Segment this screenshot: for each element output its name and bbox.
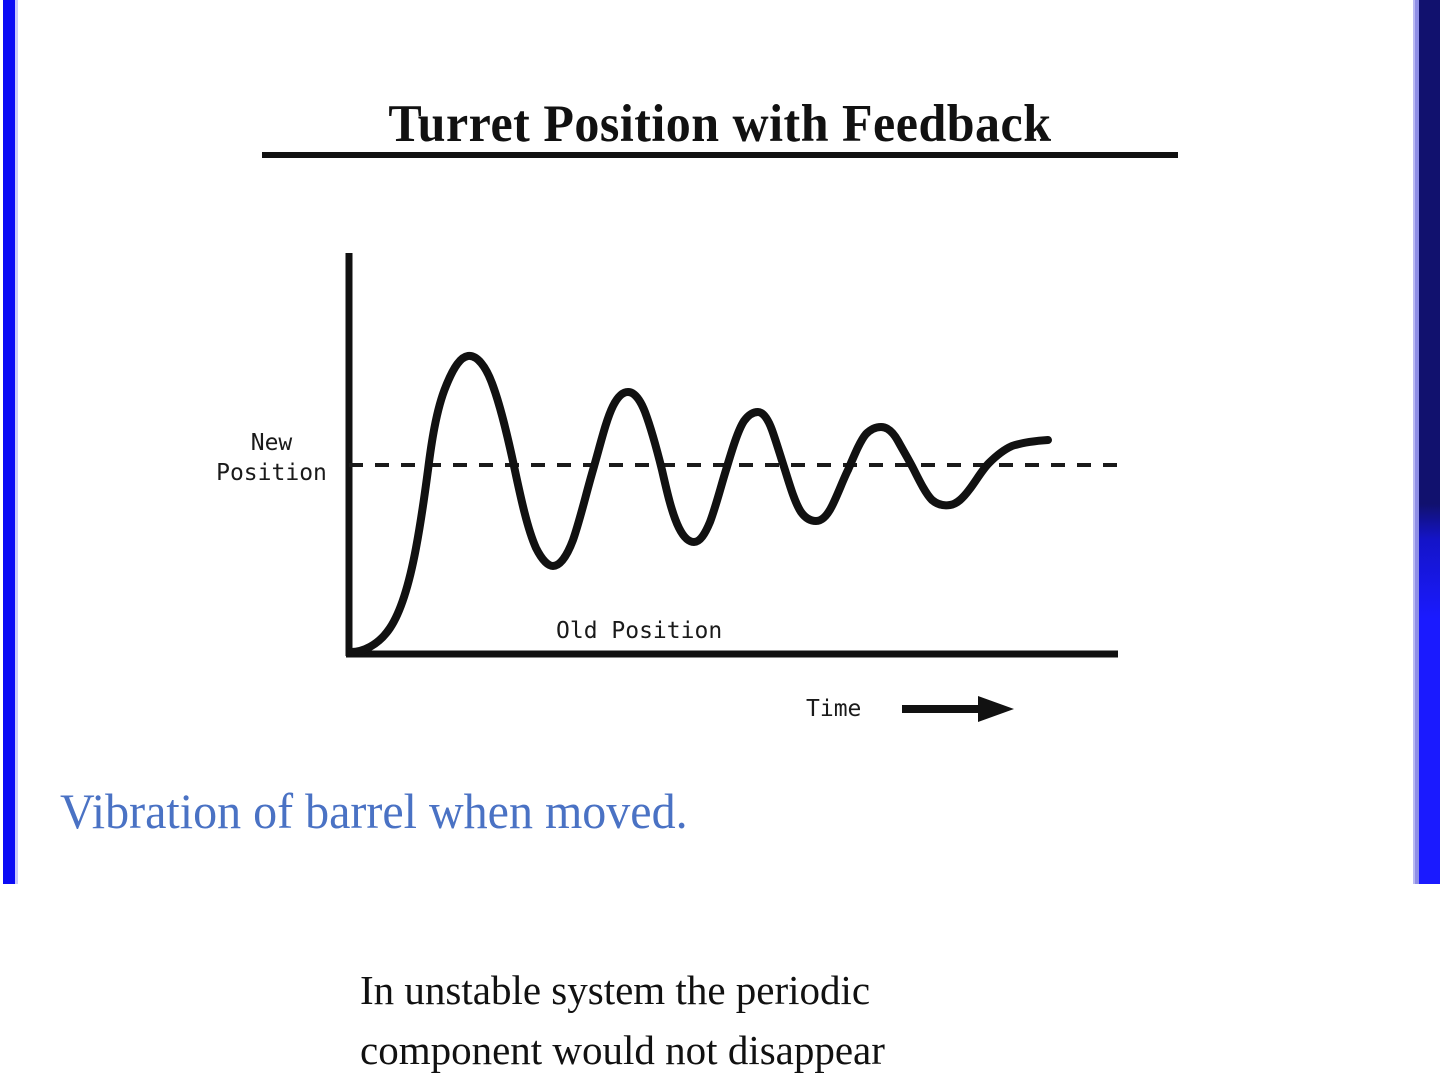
chart-x-axis-label: Time [806, 694, 861, 724]
old-position-label: Old Position [556, 616, 722, 646]
response-curve [351, 356, 1048, 652]
chart-y-axis-label: New Position [204, 428, 339, 488]
chart-figure: New Position Old Position Time [0, 0, 1440, 884]
caption-line-2: component would not disappear [360, 1020, 1120, 1080]
caption-line-1: In unstable system the periodic [360, 960, 1120, 1020]
caption-block: In unstable system the periodic componen… [360, 960, 1120, 1080]
slide-subtitle: Vibration of barrel when moved. [60, 782, 688, 842]
chart-y-axis-label-line1: New [204, 428, 339, 458]
chart-y-axis-label-line2: Position [204, 458, 339, 488]
slide: Turret Position with Feedback New Positi… [0, 0, 1440, 884]
time-arrow-icon [902, 696, 1014, 722]
